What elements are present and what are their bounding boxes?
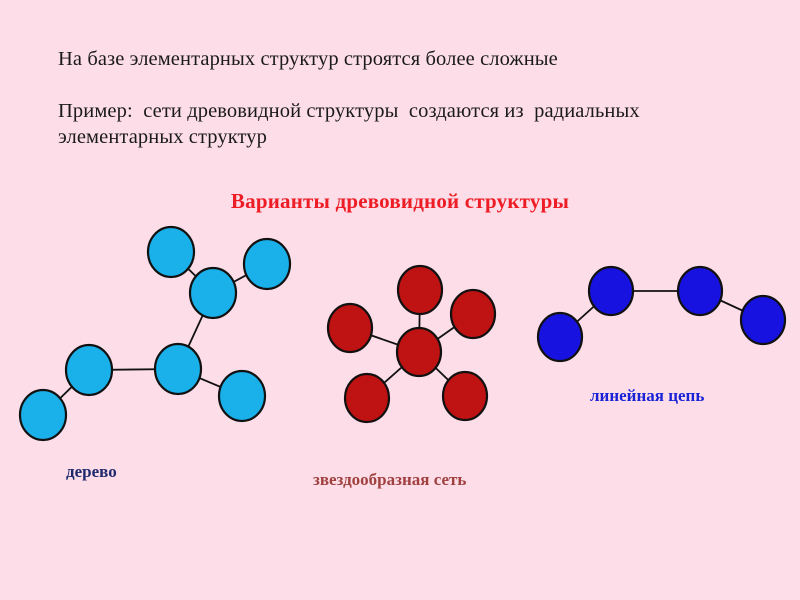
caption-star-network: звездообразная сеть <box>313 470 466 490</box>
slide-canvas: На базе элементарных структур строятся б… <box>0 0 800 600</box>
graph-node <box>190 268 236 318</box>
graph-star <box>328 266 495 422</box>
graph-node <box>741 296 785 344</box>
graph-node <box>397 328 441 376</box>
graph-node <box>345 374 389 422</box>
graph-node <box>148 227 194 277</box>
graph-chain <box>538 267 785 361</box>
graph-node <box>678 267 722 315</box>
graph-node <box>398 266 442 314</box>
graph-node <box>20 390 66 440</box>
graph-node <box>328 304 372 352</box>
graph-node <box>219 371 265 421</box>
graph-node <box>66 345 112 395</box>
graph-node <box>589 267 633 315</box>
graph-tree <box>20 227 290 440</box>
graph-node <box>443 372 487 420</box>
caption-linear-chain: линейная цепь <box>590 386 704 406</box>
graph-node <box>451 290 495 338</box>
graph-node <box>155 344 201 394</box>
network-diagrams <box>0 0 800 600</box>
graph-node <box>244 239 290 289</box>
graph-node <box>538 313 582 361</box>
caption-tree: дерево <box>66 462 117 482</box>
